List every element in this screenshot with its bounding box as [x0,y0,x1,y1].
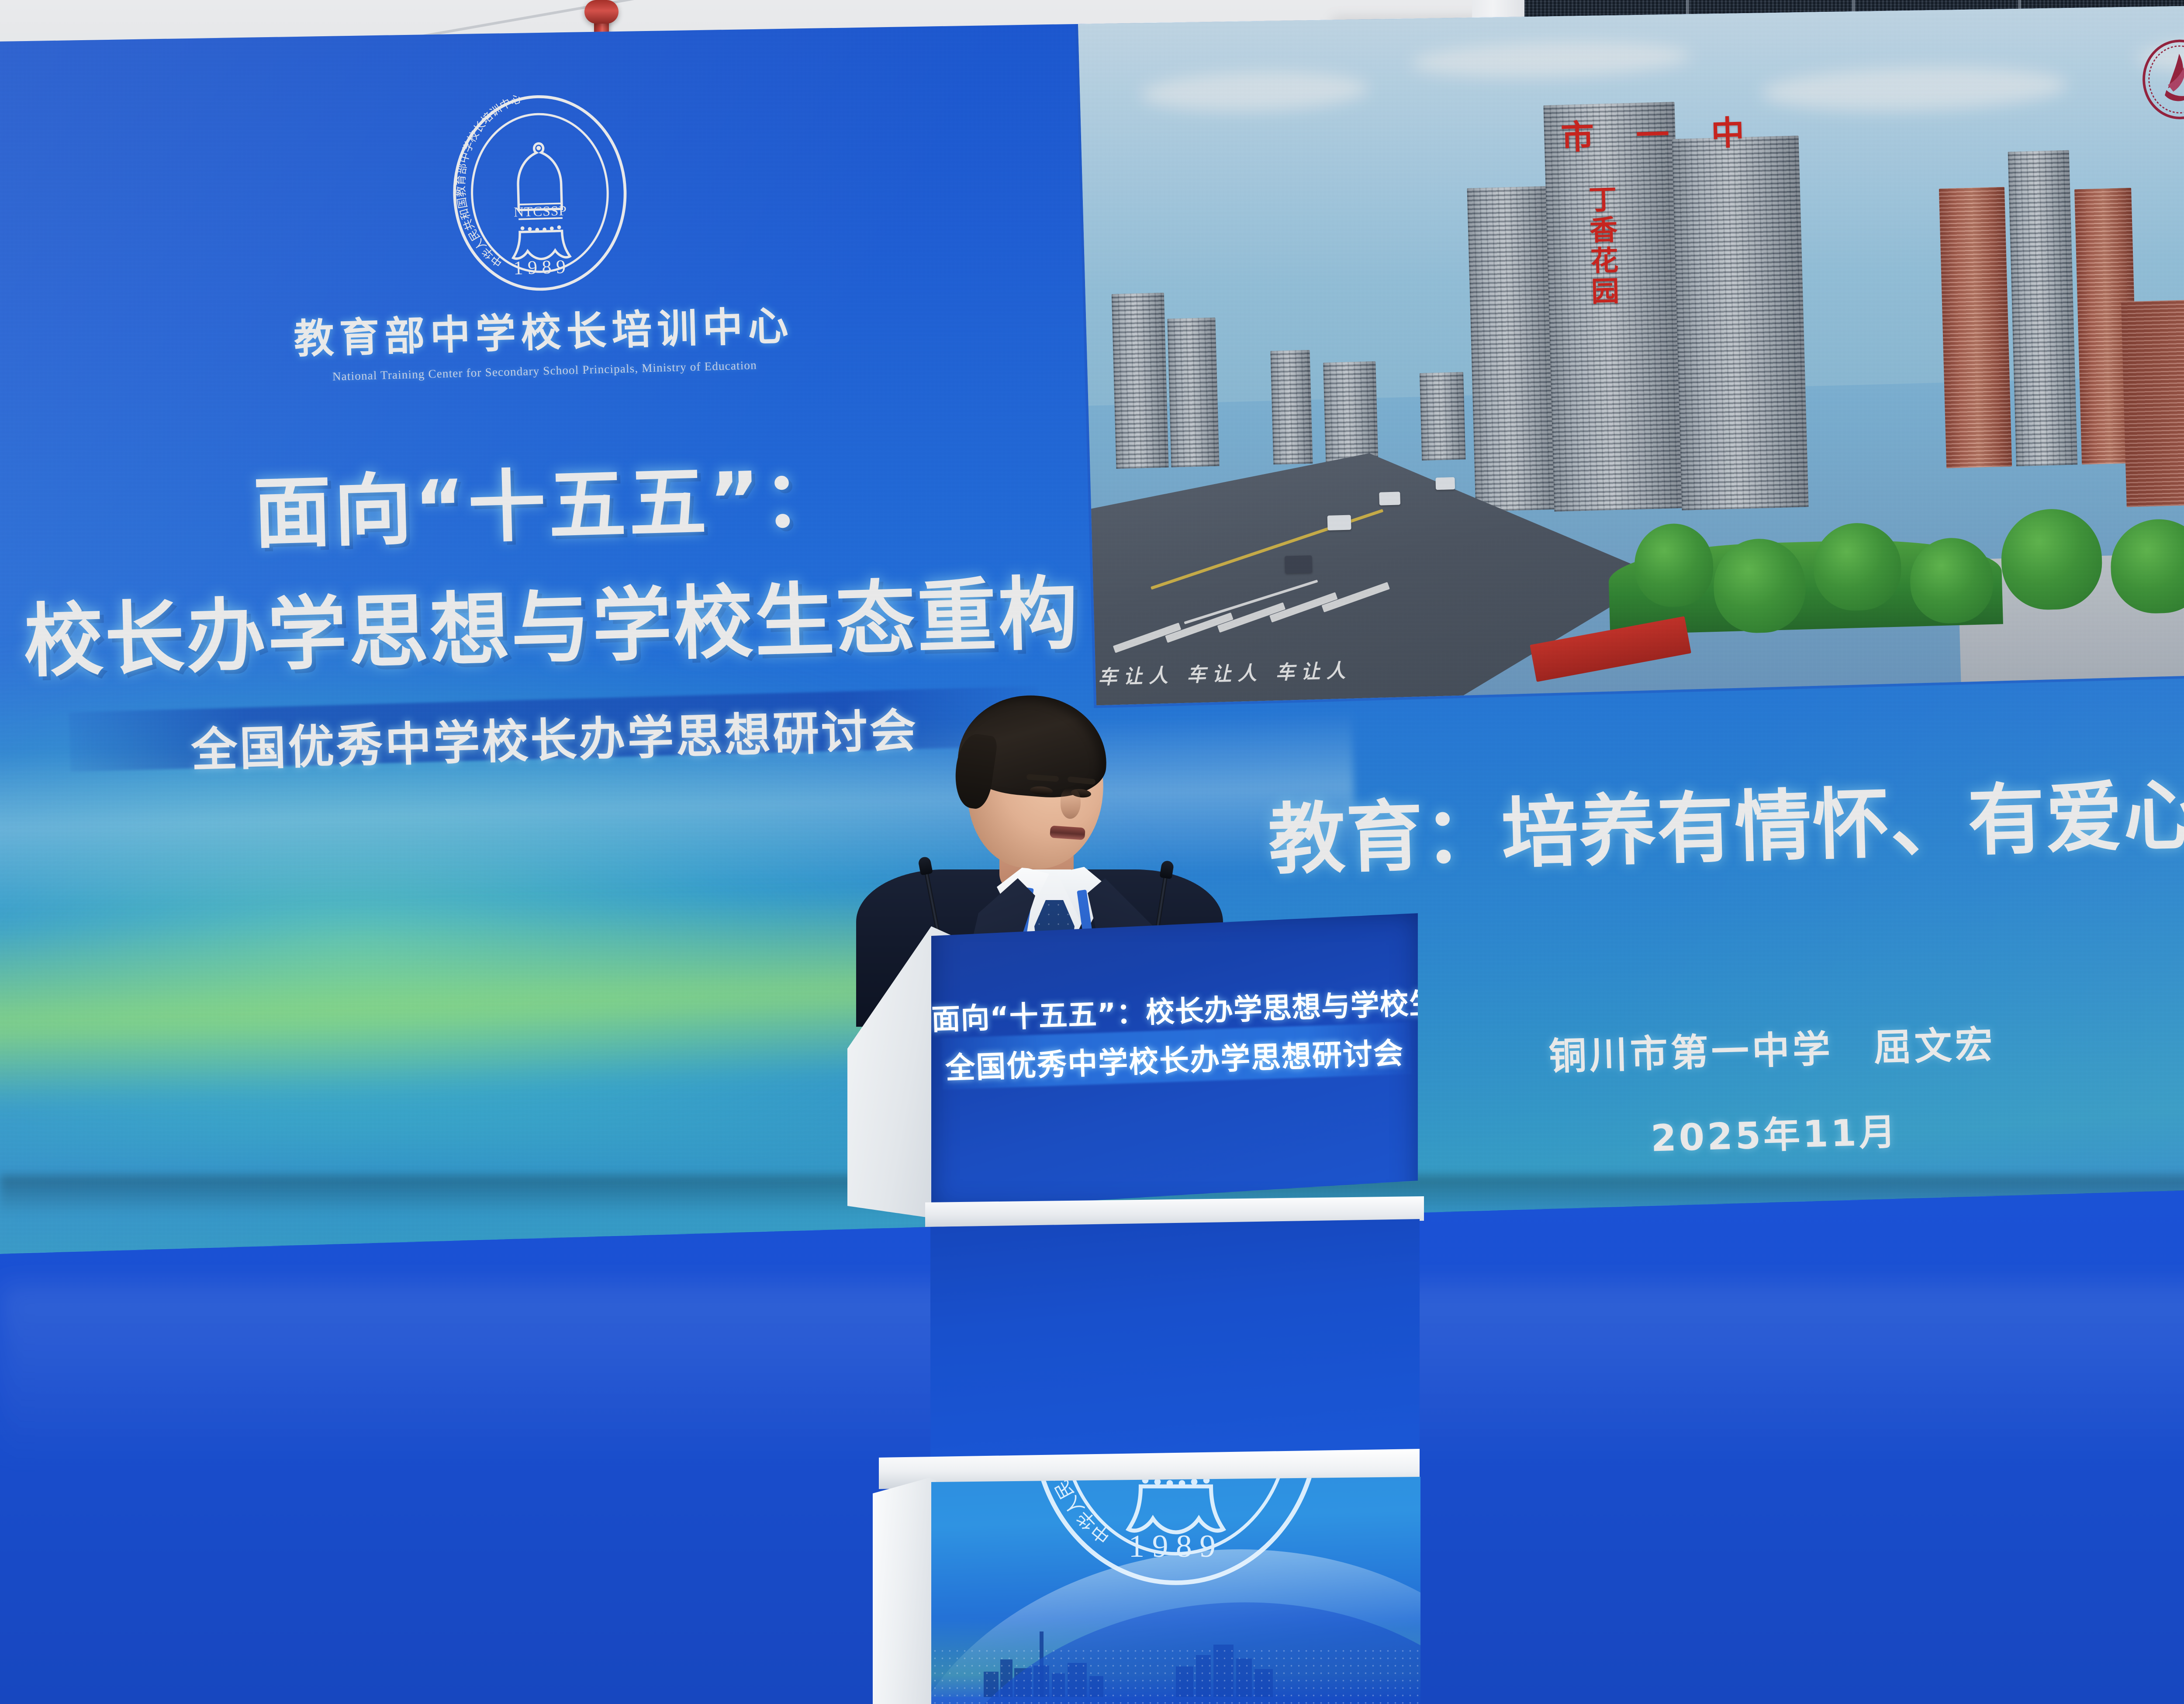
photo-tower-far-3 [1270,350,1313,464]
svg-text:1989: 1989 [1129,1528,1223,1564]
photo-campus-tower-1 [1939,187,2012,468]
photo-tree-1 [1633,523,1714,608]
conference-stage-photo: 中华人民共和国教育部中学校长培训中心 NTCSSP 1989 教 [0,0,2184,1704]
podium-left-side-face [873,1478,936,1704]
photo-car-2 [1379,492,1400,505]
photo-highrise-right [1672,135,1809,510]
photo-campus-tower-2 [2008,150,2077,467]
svg-text:NTCSSP: NTCSSP [514,203,567,219]
podium-sign-panel: 面向“十五五”：校长办学思想与学校生态重构 全国优秀中学校长办学思想研讨会 [931,913,1418,1210]
campus-photo-strip: 市一中 丁香花园 车让人 车让人 车让人 [1078,0,2184,705]
photo-tree-5 [2000,508,2103,611]
photo-tower-far-5 [1420,372,1465,461]
photo-tower-far-1 [1112,293,1169,469]
building-label-top: 市一中 [1560,104,1787,159]
red-pipe-elbow [584,0,619,24]
building-label-side: 丁香花园 [1579,184,1623,308]
photo-tower-far-2 [1167,318,1219,468]
photo-academic-building [2121,291,2184,507]
slide-title-line-2: 校长办学思想与学校生态重构 [13,549,1090,693]
podium-base-panel: 中华人民共和国教育部中学校长培训中心 NTCSSP 1989 [931,1477,1420,1704]
photo-highrise-left [1467,186,1559,512]
school-logo: 铜川市第一中学 TONG CHUAN 01 MIDDLE SCHOOL [2136,14,2184,131]
slide-title-line-1: 面向“十五五”： [10,429,1087,570]
speaker-mouth [1050,825,1085,840]
photo-tower-far-4 [1323,361,1378,463]
ntcssp-emblem-icon: 中华人民共和国教育部中学校长培训中心 NTCSSP 1989 [446,88,635,298]
podium-dot-pattern [931,1647,1420,1704]
speaking-podium: 面向“十五五”：校长办学思想与学校生态重构 全国优秀中学校长办学思想研讨会 [821,913,1441,1704]
photo-tree-3 [1813,522,1902,612]
photo-car-4 [1435,477,1455,490]
podium-ntcssp-emblem-icon: 中华人民共和国教育部中学校长培训中心 NTCSSP 1989 [1023,1477,1329,1595]
photo-car-1 [1327,515,1351,530]
podium-mid-body [930,1219,1420,1464]
tongchuan-school-seal-icon [2136,35,2184,123]
photo-car-3 [1285,555,1312,574]
svg-text:1989: 1989 [513,256,570,279]
